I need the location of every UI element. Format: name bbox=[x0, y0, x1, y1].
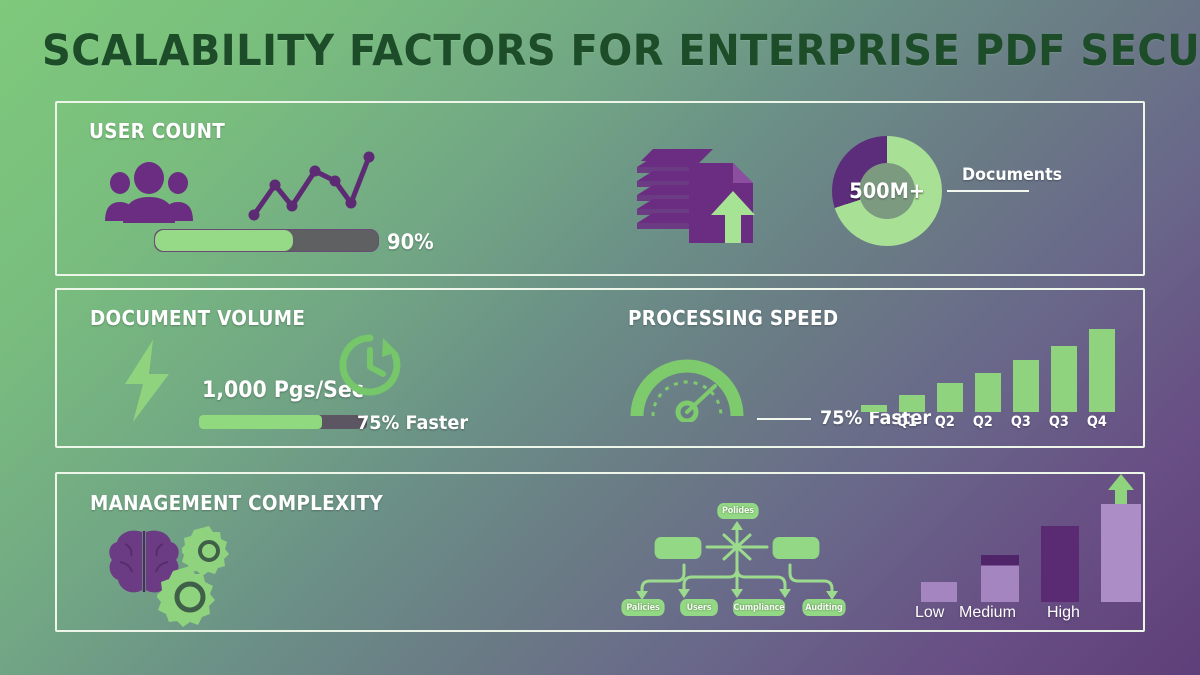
bar-6 bbox=[1089, 329, 1115, 412]
bar-1 bbox=[899, 395, 925, 412]
user-count-progress-fill bbox=[155, 230, 293, 251]
line-chart-icon bbox=[247, 143, 377, 223]
flow-node-mid-left[interactable] bbox=[655, 537, 702, 559]
document-volume-progress-track bbox=[199, 415, 367, 429]
bar-0 bbox=[861, 405, 887, 412]
flow-node-top[interactable]: Polides bbox=[717, 503, 758, 519]
complexity-bar-medium bbox=[981, 555, 1019, 602]
qlabel-3: Q3 bbox=[1011, 414, 1031, 430]
qlabel-0: Q1 bbox=[897, 414, 917, 430]
qlabel-4: Q3 bbox=[1049, 414, 1069, 430]
user-count-progress-value: 90% bbox=[387, 230, 434, 254]
donut-center-label-visible: 500M+ bbox=[849, 179, 925, 203]
flow-node-policies[interactable]: Palicies bbox=[621, 599, 664, 616]
section-label-management-complexity: Management Complexity bbox=[90, 491, 383, 515]
donut-callout-label: Documents bbox=[962, 165, 1062, 185]
section-label-user-count: User Count bbox=[89, 119, 225, 143]
complexity-bar-low bbox=[921, 582, 957, 602]
arrow-up-icon bbox=[1107, 474, 1135, 504]
bar-4 bbox=[1013, 360, 1039, 412]
clabel-low: Low bbox=[915, 604, 944, 622]
panel-user-count: User Count 90% bbox=[55, 101, 1145, 276]
lightning-bolt-icon bbox=[119, 338, 177, 424]
qlabel-5: Q4 bbox=[1087, 414, 1107, 430]
document-stack-upload-icon bbox=[627, 141, 787, 251]
speedometer-gauge-icon bbox=[627, 342, 747, 422]
section-label-processing-speed: Processing Speed bbox=[628, 306, 838, 330]
page-title: Scalability Factors for Enterprise PDF S… bbox=[42, 26, 1158, 76]
clabel-medium: Medium bbox=[959, 604, 1016, 622]
complexity-bar-peak bbox=[1101, 504, 1141, 602]
quarterly-growth-bars bbox=[857, 320, 1107, 412]
quarterly-axis-labels: Q1 Q2 Q2 Q3 Q3 Q4 bbox=[857, 414, 1117, 434]
complexity-bar-high bbox=[1041, 526, 1079, 602]
panel-management-complexity: Management Complexity bbox=[55, 472, 1145, 632]
flow-node-compliance[interactable]: Cumpliance bbox=[733, 599, 785, 616]
bar-2 bbox=[937, 383, 963, 412]
complexity-axis-labels: Low Medium High bbox=[907, 604, 1137, 626]
panel-document-volume-speed: Document Volume Processing Speed 1,000 P… bbox=[55, 288, 1145, 448]
speed-callout-line bbox=[757, 418, 811, 420]
flow-node-mid-right[interactable] bbox=[773, 537, 820, 559]
document-volume-progress-value: 75% Faster bbox=[357, 412, 468, 434]
bar-5 bbox=[1051, 346, 1077, 412]
section-label-document-volume: Document Volume bbox=[90, 306, 305, 330]
donut-hole-mask: 500M+ bbox=[859, 163, 915, 219]
flow-diagram: Polides Palicies Users Cumpliance Auditi… bbox=[632, 499, 842, 619]
people-group-icon bbox=[99, 161, 199, 223]
donut-callout-line bbox=[947, 190, 1029, 192]
qlabel-2: Q2 bbox=[973, 414, 993, 430]
qlabel-1: Q2 bbox=[935, 414, 955, 430]
flow-node-users[interactable]: Users bbox=[680, 599, 718, 616]
document-volume-progress-fill bbox=[199, 415, 322, 429]
bar-3 bbox=[975, 373, 1001, 412]
user-count-progress-track bbox=[154, 229, 379, 252]
flow-node-auditing[interactable]: Auditing bbox=[802, 599, 845, 616]
gear-icon bbox=[157, 564, 223, 630]
clock-refresh-icon bbox=[335, 330, 405, 400]
complexity-bars bbox=[907, 504, 1107, 602]
clabel-high: High bbox=[1047, 604, 1080, 622]
